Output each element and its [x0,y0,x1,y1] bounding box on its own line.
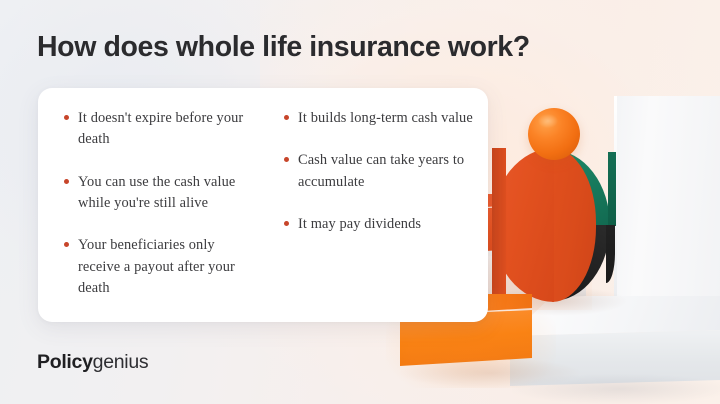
bullet-dot-icon [64,242,69,247]
list-item: It doesn't expire before your death [64,108,260,151]
list-item: Cash value can take years to accumulate [284,150,480,193]
bullet-dot-icon [284,115,289,120]
bullet-text: It may pay dividends [298,214,421,235]
bullet-text: You can use the cash value while you're … [78,172,260,215]
list-item: It builds long-term cash value [284,108,480,129]
bullet-dot-icon [64,115,69,120]
card-columns: It doesn't expire before your death You … [38,88,488,320]
list-item: You can use the cash value while you're … [64,172,260,215]
green-quarter-side [608,152,616,226]
bullet-text: It builds long-term cash value [298,108,473,129]
brand-name-light: genius [93,351,149,373]
content-card: It doesn't expire before your death You … [38,88,488,322]
bullet-text: Your beneficiaries only receive a payout… [78,235,260,299]
page-title: How does whole life insurance work? [37,31,530,64]
bullet-column-right: It builds long-term cash value Cash valu… [266,108,488,320]
brand-logo: Policygenius [37,351,148,374]
bullet-column-left: It doesn't expire before your death You … [38,108,266,320]
bullet-dot-icon [284,221,289,226]
orange-leaf-flat-edge [492,148,506,302]
list-item: Your beneficiaries only receive a payout… [64,235,260,299]
bullet-dot-icon [64,179,69,184]
bullet-text: It doesn't expire before your death [78,108,260,151]
bullet-text: Cash value can take years to accumulate [298,150,480,193]
white-podium-front [510,330,720,390]
infographic-canvas: How does whole life insurance work? It d… [0,0,720,404]
bullet-dot-icon [284,157,289,162]
list-item: It may pay dividends [284,214,480,235]
brand-name-bold: Policy [37,351,93,373]
white-wall-panel [614,96,720,328]
orange-sphere-icon [528,108,580,160]
white-podium-top [510,296,720,336]
